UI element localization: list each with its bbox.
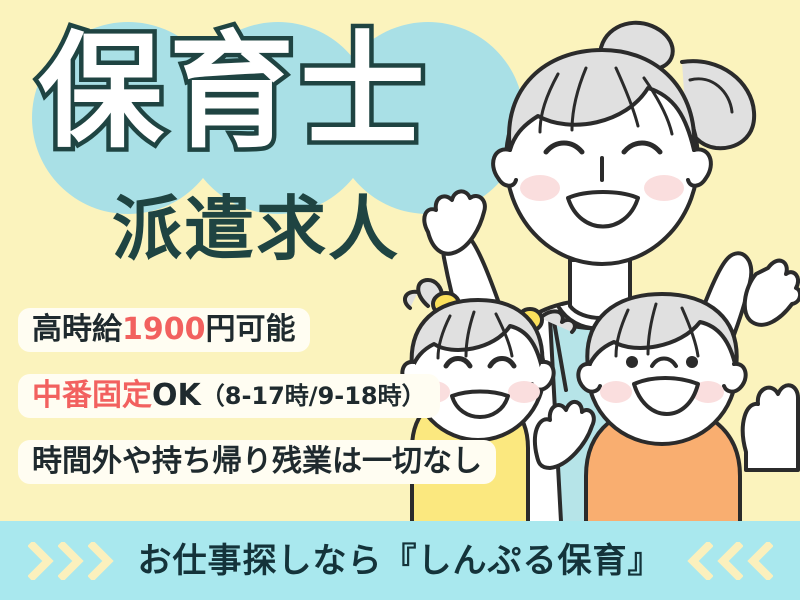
pill-1-prefix: 高時給 [32,315,122,345]
pill-1-amount: 1900 [122,315,206,345]
job-ad-poster: 保育士 派遣求人 高時給 1900 円可能 中番固定 OK （8-17時/9-1… [0,0,800,600]
left-chevrons [28,542,114,580]
chevron-left-icon [717,542,743,580]
pill-2-hours: （8-17時/9-18時） [201,384,426,408]
page-title: 保育士 [38,30,431,155]
chevron-right-icon [88,542,114,580]
page-subtitle: 派遣求人 [112,194,400,264]
banner-text: お仕事探しなら『しんぷる保育』 [138,544,663,578]
chevron-right-icon [58,542,84,580]
pill-2-prefix: 中番固定 [32,381,152,411]
pill-1-suffix: 円可能 [206,315,296,345]
benefit-pill-shift: 中番固定 OK （8-17時/9-18時） [18,374,440,418]
chevron-left-icon [687,542,713,580]
chevron-left-icon [747,542,773,580]
bottom-banner: お仕事探しなら『しんぷる保育』 [0,521,800,600]
pill-3-text: 時間外や持ち帰り残業は一切なし [32,447,482,477]
benefit-pill-overtime: 時間外や持ち帰り残業は一切なし [18,440,496,484]
pill-2-ok: OK [152,381,201,411]
chevron-right-icon [28,542,54,580]
benefit-pill-wage: 高時給 1900 円可能 [18,308,310,352]
right-chevrons [687,542,773,580]
